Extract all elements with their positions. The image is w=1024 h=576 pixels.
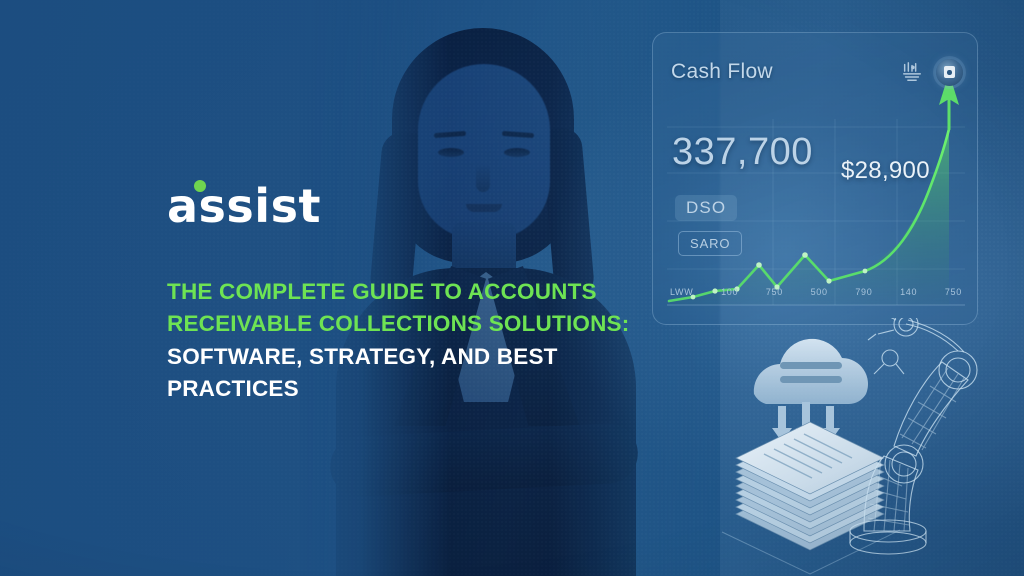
headline-line-1: THE COMPLETE GUIDE TO ACCOUNTS	[167, 276, 667, 308]
headline-line-2: RECEIVABLE COLLECTIONS SOLUTIONS:	[167, 308, 667, 340]
status-badge-dso[interactable]: DSO	[675, 195, 737, 221]
status-badge-saro[interactable]: SARO	[678, 231, 742, 256]
robotic-arm-icon	[850, 318, 977, 554]
card-title: Cash Flow	[671, 60, 773, 84]
slide-canvas: assist THE COMPLETE GUIDE TO ACCOUNTS RE…	[0, 0, 1024, 576]
analytics-icon[interactable]	[901, 61, 923, 83]
page-title: THE COMPLETE GUIDE TO ACCOUNTS RECEIVABL…	[167, 276, 667, 406]
card-header-icons	[901, 59, 963, 86]
cash-flow-card: Cash Flow 337,700 $28,900 DSO SARO	[652, 32, 978, 325]
secondary-metric-value: $28,900	[841, 157, 930, 185]
logo-wordmark: assist	[167, 179, 321, 233]
x-tick-6: 750	[945, 287, 962, 297]
x-tick-2: 750	[766, 287, 783, 297]
x-tick-1: 100	[721, 287, 738, 297]
capture-glyph	[944, 66, 955, 78]
primary-metric-value: 337,700	[672, 131, 813, 174]
x-tick-0: LWW	[670, 287, 693, 297]
headline-line-4: PRACTICES	[167, 373, 667, 405]
assist-logo: assist	[167, 180, 667, 232]
left-content: assist THE COMPLETE GUIDE TO ACCOUNTS RE…	[167, 180, 667, 406]
x-tick-3: 500	[811, 287, 828, 297]
card-header: Cash Flow	[671, 57, 963, 87]
logo-green-dot-icon	[194, 180, 206, 192]
cloud-documents-icon	[754, 339, 868, 404]
camera-capture-icon[interactable]	[936, 59, 963, 86]
headline-line-3: SOFTWARE, STRATEGY, AND BEST	[167, 341, 667, 373]
chart-x-tick-labels: LWW 100 750 500 790 140 750	[670, 287, 962, 297]
automation-graphics	[718, 318, 1024, 576]
x-tick-5: 140	[900, 287, 917, 297]
x-tick-4: 790	[855, 287, 872, 297]
paper-stack-icon	[722, 422, 900, 574]
